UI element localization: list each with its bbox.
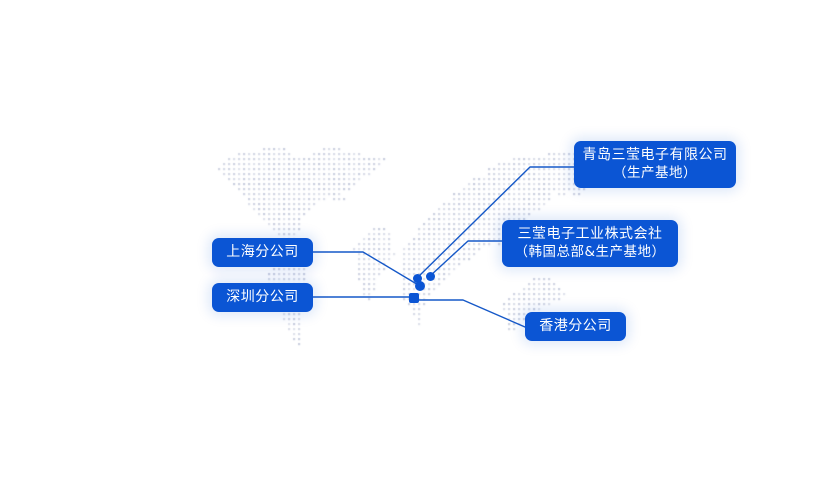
marker-korea[interactable] [426,272,435,281]
connector-shanghai [313,252,420,286]
connector-korea [430,241,502,276]
label-shanghai-line1: 上海分公司 [226,243,299,261]
label-shenzhen-line1: 深圳分公司 [226,288,299,306]
label-shanghai[interactable]: 上海分公司 [212,238,313,267]
label-hongkong[interactable]: 香港分公司 [525,312,626,341]
world-map-infographic: 青岛三莹电子有限公司（生产基地）三莹电子工业株式会社（韩国总部&生产基地）上海分… [0,0,824,480]
label-shenzhen[interactable]: 深圳分公司 [212,283,313,312]
marker-shanghai[interactable] [415,281,425,291]
label-korea-hq-line1: 三莹电子工业株式会社 [518,225,663,243]
label-korea-hq-line2: （韩国总部&生产基地） [514,244,665,262]
marker-shenzhen[interactable] [409,293,419,303]
label-qingdao[interactable]: 青岛三莹电子有限公司（生产基地） [574,141,736,188]
label-hongkong-line1: 香港分公司 [539,317,612,335]
label-qingdao-line1: 青岛三莹电子有限公司 [583,146,728,164]
label-qingdao-line2: （生产基地） [613,165,697,183]
connector-lines [0,0,824,480]
connector-hongkong [414,300,525,327]
label-korea-hq[interactable]: 三莹电子工业株式会社（韩国总部&生产基地） [502,220,678,267]
